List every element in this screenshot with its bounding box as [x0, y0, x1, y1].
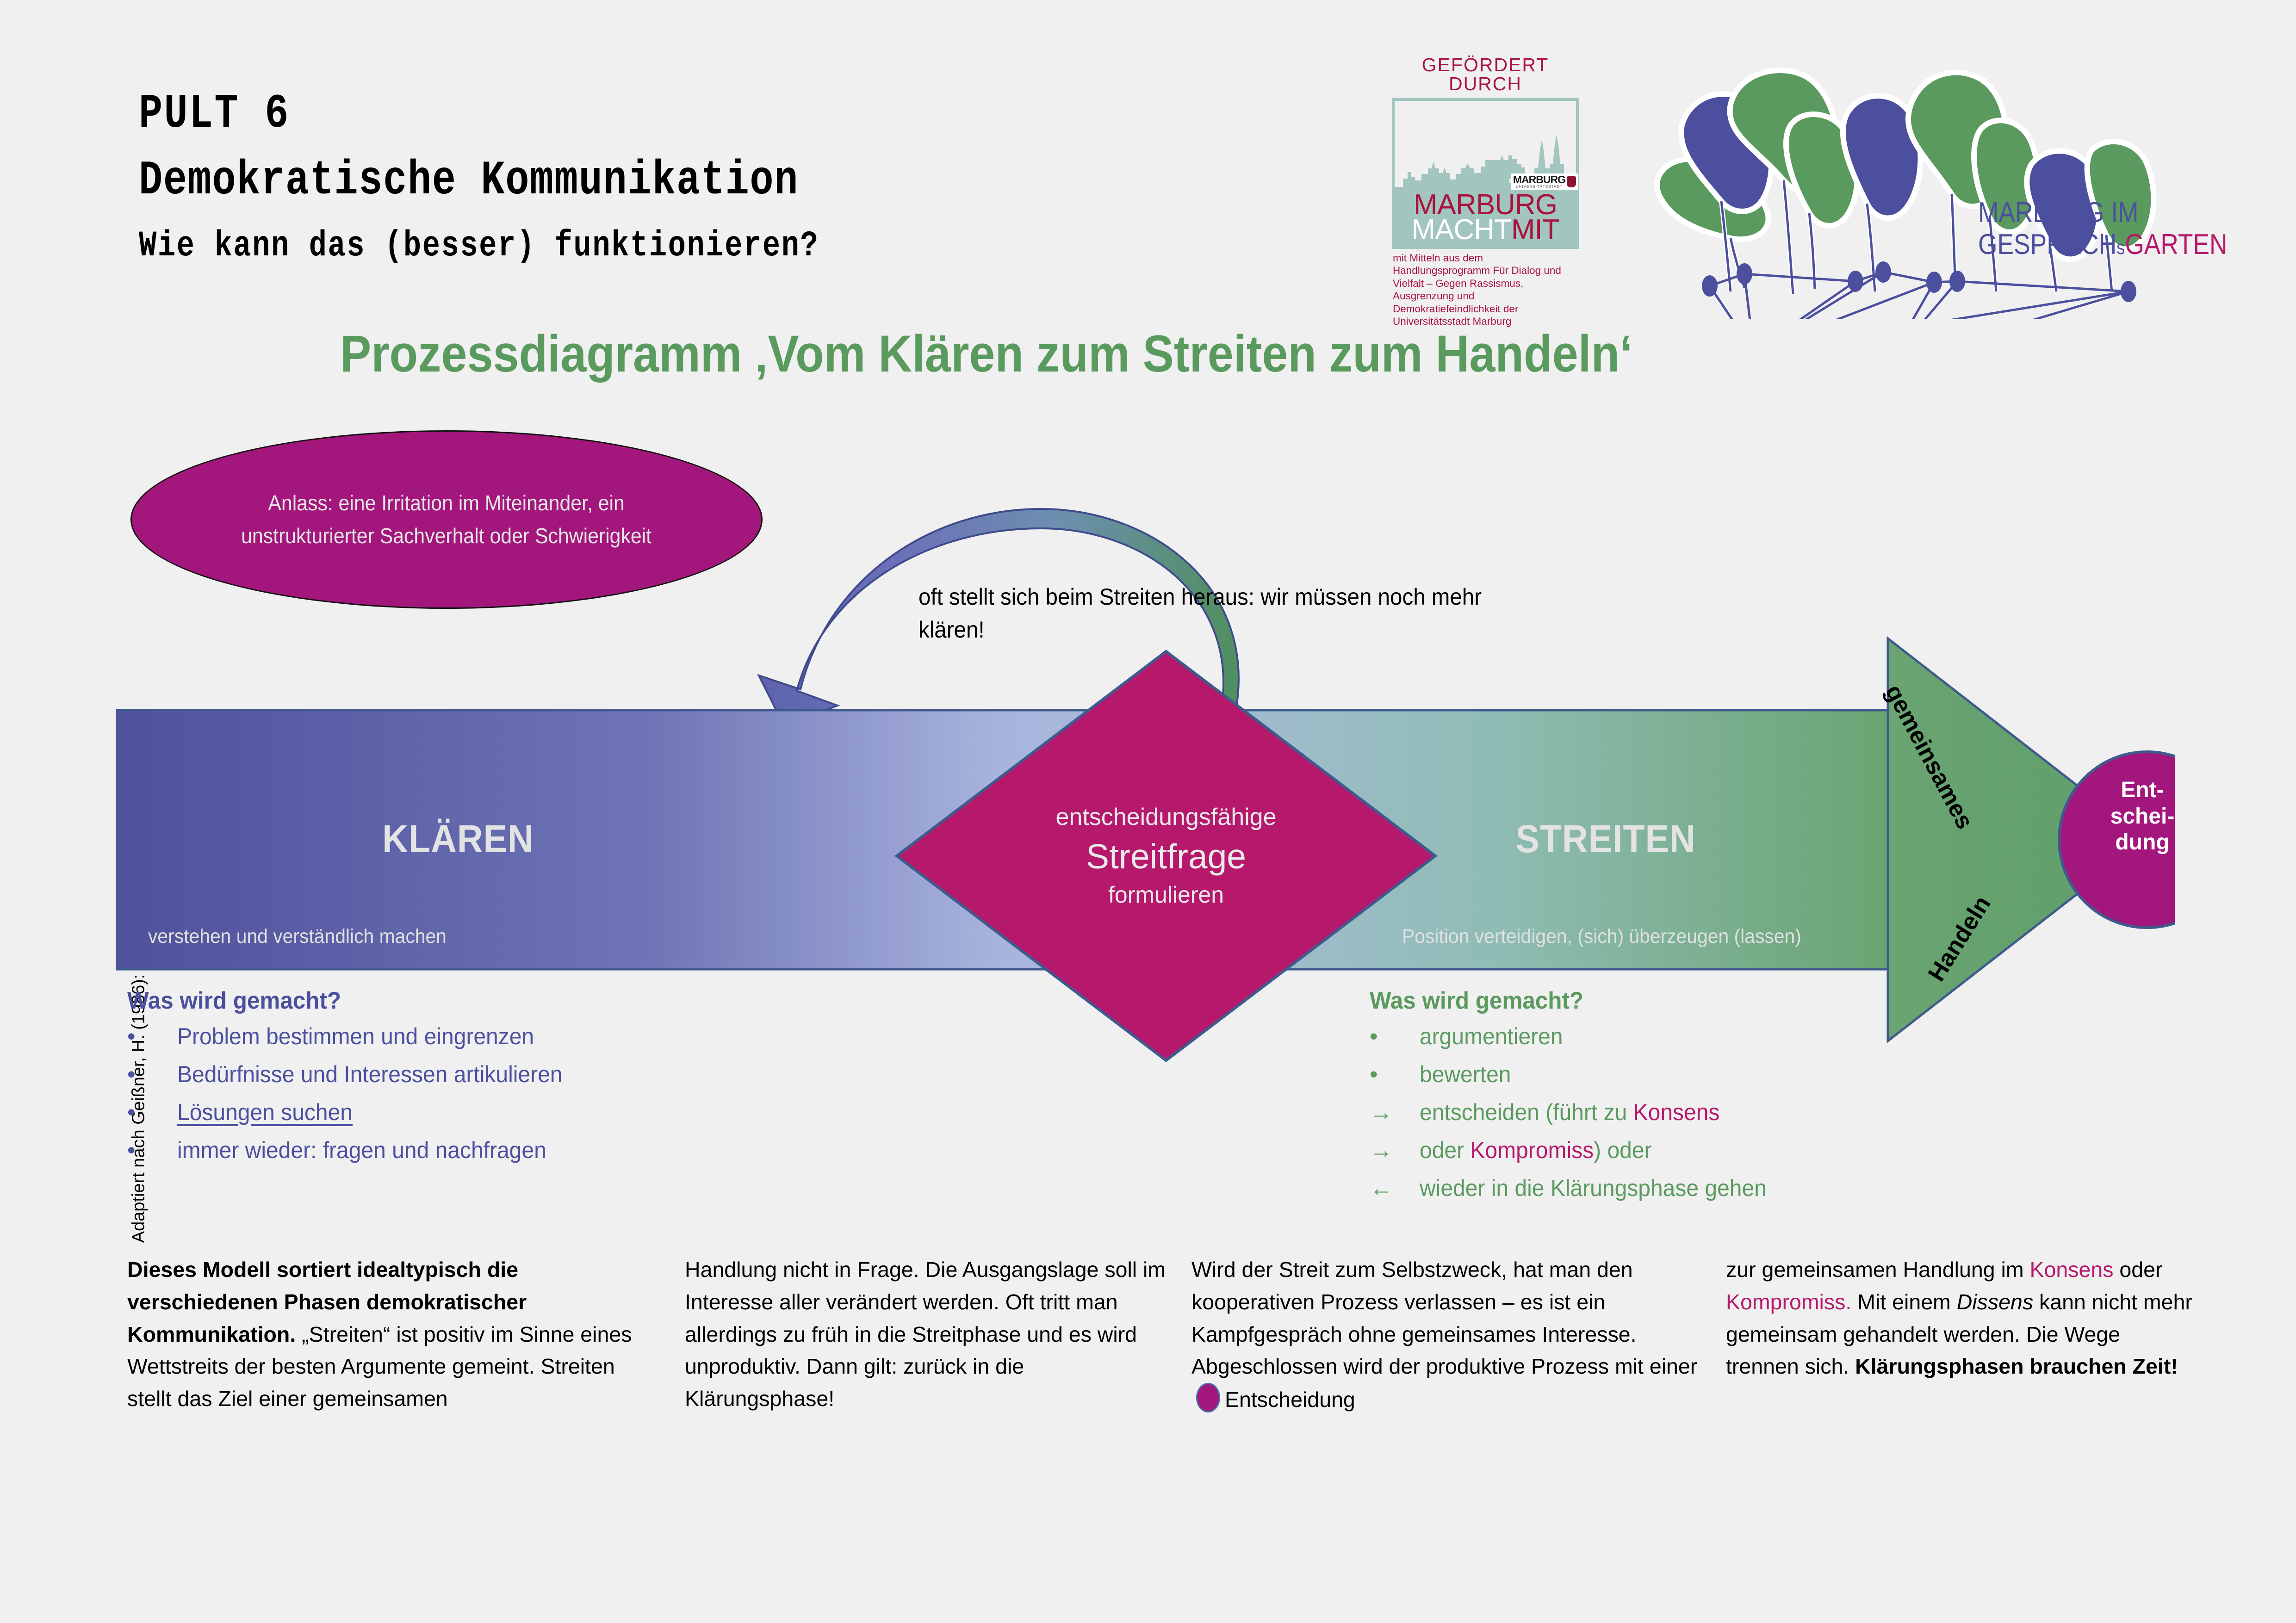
list-item-label: Bedürfnisse und Interessen artikulieren [177, 1062, 795, 1087]
gespraechsgarten-wordmark: MARBURG IM GESPRÄCHsGARTEN [1978, 199, 2268, 259]
list-item: ← wieder in die Klärungsphase gehen [1370, 1176, 2041, 1201]
arrow-right-icon: → [1370, 1138, 1420, 1163]
bullet-icon: • [127, 1100, 177, 1125]
list-item-label: entscheiden (führt zu Konsens [1420, 1100, 2016, 1125]
badge-subword: UNIVERSITÄTSSTADT [1513, 185, 1565, 189]
phase-sub-streiten: Position verteidigen, (sich) überzeugen … [1402, 925, 1973, 948]
gespraech-word: GESPRÄCH [1978, 229, 2116, 260]
col4-kompromiss-term: Kompromiss. [1726, 1290, 1851, 1314]
list-item: • immer wieder: fragen und nachfragen [127, 1138, 821, 1163]
explanation-column-3: Wird der Streit zum Selbstzweck, hat man… [1191, 1254, 1705, 1416]
entscheidung-dot-icon [1196, 1383, 1220, 1412]
phase-label-streiten: STREITEN [1452, 817, 1759, 861]
list-item-label: wieder in die Klärungsphase gehen [1420, 1176, 2016, 1201]
list-item: • argumentieren [1370, 1024, 2041, 1049]
list-item-label: bewerten [1420, 1062, 2016, 1087]
diamond-line-3: formulieren [1108, 882, 1224, 908]
paragraph: Handlung nicht in Frage. Die Ausgangslag… [685, 1254, 1175, 1415]
konsens-term: Konsens [1633, 1099, 1720, 1125]
macht-word: MACHT [1411, 214, 1511, 246]
list-item-label: argumentieren [1420, 1024, 2016, 1049]
bullet-icon: • [127, 1024, 177, 1049]
list-item: • Problem bestimmen und eingrenzen [127, 1024, 821, 1049]
entscheidung-circle-label: Ent-schei-dung [2082, 777, 2203, 856]
anlass-ellipse: Anlass: eine Irritation im Miteinander, … [130, 430, 763, 609]
anlass-text: Anlass: eine Irritation im Miteinander, … [206, 487, 686, 553]
list-item: • Bedürfnisse und Interessen artikuliere… [127, 1062, 821, 1087]
col3-text-b: Entscheidung [1225, 1388, 1355, 1412]
col4-konsens-term: Konsens [2030, 1258, 2114, 1282]
explanation-column-4: zur gemeinsamen Handlung im Konsens oder… [1726, 1254, 2198, 1383]
bullet-icon: • [127, 1062, 177, 1087]
funder-gefoerdert-label: GEFÖRDERT DURCH [1388, 56, 1582, 93]
list-item: → oder Kompromiss) oder [1370, 1138, 2041, 1163]
col4-dissens-term: Dissens [1957, 1290, 2033, 1314]
col4-text-c: Mit einem [1851, 1290, 1956, 1314]
page-title: Demokratische Kommunikation [139, 151, 1125, 211]
bullet-icon: • [1370, 1062, 1420, 1087]
explanation-column-1: Dieses Modell sortiert idealtypisch die … [127, 1254, 664, 1415]
list-item-label: Problem bestimmen und eingrenzen [177, 1024, 795, 1049]
garten-line-2: GESPRÄCHsGARTEN [1978, 231, 2228, 259]
diamond-line-2: Streitfrage [1086, 830, 1246, 883]
explanation-column-2: Handlung nicht in Frage. Die Ausgangslag… [685, 1254, 1175, 1415]
list-item-label: Lösungen suchen [177, 1100, 795, 1125]
klaeren-activity-list: Was wird gemacht? • Problem bestimmen un… [127, 988, 821, 1176]
col4-text-b: oder [2113, 1258, 2162, 1282]
streiten-activity-list: Was wird gemacht? • argumentieren • bewe… [1370, 988, 2041, 1214]
funder-note: mit Mitteln aus dem Handlungsprogramm Fü… [1393, 252, 1578, 328]
pult-label: PULT 6 [139, 88, 1125, 141]
kompromiss-term: Kompromiss [1470, 1137, 1594, 1163]
paragraph: Wird der Streit zum Selbstzweck, hat man… [1191, 1254, 1705, 1416]
col4-text-a: zur gemeinsamen Handlung im [1726, 1258, 2030, 1282]
klaeren-list-heading: Was wird gemacht? [127, 988, 787, 1014]
list-item-label: immer wieder: fragen und nachfragen [177, 1138, 795, 1163]
streiten-list-heading: Was wird gemacht? [1370, 988, 2007, 1014]
marburg-shield-icon [1567, 176, 1576, 187]
col4-bold-text: Klärungsphasen brauchen Zeit! [1855, 1354, 2178, 1378]
diamond-line-1: entscheidungsfähige [1055, 804, 1276, 830]
phase-label-klaeren: KLÄREN [330, 817, 586, 861]
gespraechsgarten-logo: MARBURG IM GESPRÄCHsGARTEN [1592, 60, 2249, 319]
garten-line-1: MARBURG IM [1978, 199, 2228, 227]
diamond-text: entscheidungsfähige Streitfrage formulie… [893, 648, 1439, 1064]
marburg-macht-mit-card: MARBURG UNIVERSITÄTSSTADT MARBURG MACHTM… [1392, 98, 1579, 249]
arrow-right-icon: → [1370, 1100, 1420, 1125]
col3-text-a: Wird der Streit zum Selbstzweck, hat man… [1191, 1258, 1697, 1378]
mit-word: MIT [1511, 214, 1559, 246]
list-item: → entscheiden (führt zu Konsens [1370, 1100, 2041, 1125]
badge-word: MARBURG [1513, 174, 1565, 185]
list-item-label: oder Kompromiss) oder [1420, 1138, 2016, 1163]
gespraech-s: s [2116, 236, 2125, 258]
diagram-title: Prozessdiagramm ‚Vom Klären zum Streiten… [340, 324, 1839, 384]
marburg-city-badge: MARBURG UNIVERSITÄTSSTADT [1511, 173, 1578, 190]
garten-word: GARTEN [2125, 229, 2227, 260]
phase-sub-klaeren: verstehen und verständlich machen [148, 925, 632, 948]
funder-logo: GEFÖRDERT DURCH MARBURG UNIVERSITÄTSSTAD… [1388, 56, 1582, 328]
bullet-icon: • [1370, 1024, 1420, 1049]
streitfrage-diamond: entscheidungsfähige Streitfrage formulie… [893, 648, 1439, 1064]
leaves-network-icon [1592, 60, 2249, 319]
funder-machtmit-word: MACHTMIT [1393, 216, 1578, 244]
page-subtitle: Wie kann das (besser) funktionieren? [139, 223, 1125, 270]
paragraph: zur gemeinsamen Handlung im Konsens oder… [1726, 1254, 2198, 1383]
header-block: PULT 6 Demokratische Kommunikation Wie k… [139, 88, 1342, 270]
list-item: • bewerten [1370, 1062, 2041, 1087]
paragraph: Dieses Modell sortiert idealtypisch die … [127, 1254, 664, 1415]
list-item: • Lösungen suchen [127, 1100, 821, 1125]
arrow-left-icon: ← [1370, 1176, 1420, 1201]
bullet-icon: • [127, 1138, 177, 1163]
